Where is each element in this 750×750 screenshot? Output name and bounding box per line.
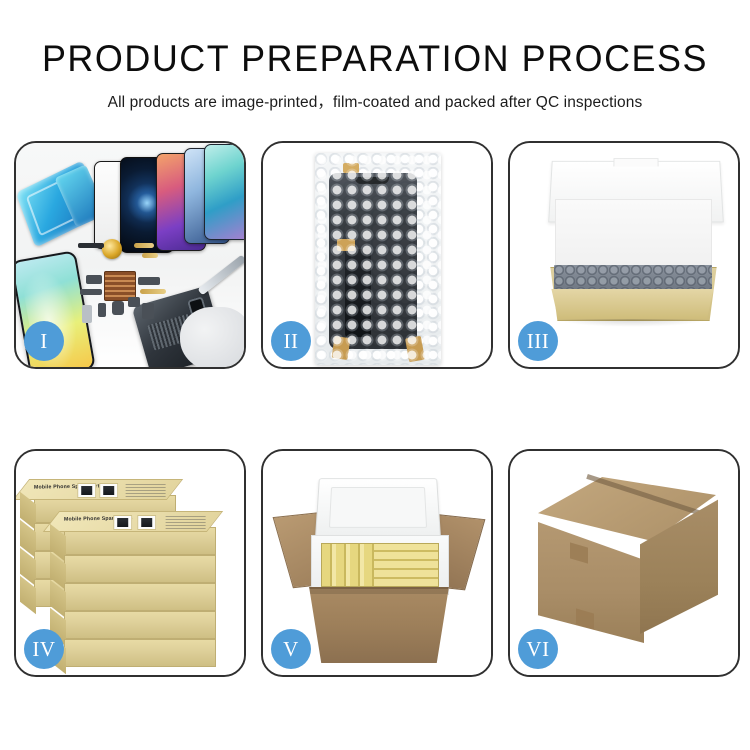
retail-box — [64, 611, 216, 639]
process-step-panel-2: II — [261, 141, 493, 369]
process-step-panel-1: I — [14, 141, 246, 369]
speaker-part-icon — [112, 301, 124, 315]
connector-part-icon — [86, 275, 102, 284]
box-window-icon — [137, 515, 156, 530]
retail-box: Mobile Phone Spare Parts — [64, 527, 216, 555]
bubble-wrap-bag-icon — [315, 153, 441, 365]
retail-box — [64, 583, 216, 611]
foam-box-lid-icon — [315, 478, 441, 537]
process-step-panel-6: VI — [508, 449, 740, 677]
flex-cable-icon — [140, 289, 166, 294]
tweezers-icon — [197, 255, 244, 296]
box-spec-lines — [126, 483, 166, 497]
camera-part-icon — [128, 297, 140, 307]
sealed-carton-icon — [528, 477, 724, 657]
box-window-icon — [113, 515, 132, 530]
step-badge-1: I — [24, 321, 64, 361]
box-window-icon — [77, 483, 96, 498]
retail-box — [64, 639, 216, 667]
kraft-box-front-icon — [548, 289, 717, 319]
packed-retail-boxes-icon — [321, 543, 439, 587]
button-part-icon — [98, 303, 106, 317]
foam-sheet-icon — [555, 199, 712, 273]
module-part-icon — [138, 277, 160, 285]
box-shadow — [556, 319, 708, 327]
carton-body-icon — [303, 587, 455, 663]
retail-box — [64, 555, 216, 583]
small-part-icon — [78, 243, 104, 248]
bubble-texture-overlay — [315, 153, 441, 365]
step-badge-5: V — [271, 629, 311, 669]
phone-screen-teal-icon — [204, 144, 244, 240]
product-preparation-process-page: PRODUCT PREPARATION PROCESS All products… — [0, 0, 750, 750]
box-window-icon — [99, 483, 118, 498]
process-step-grid: I II — [14, 141, 737, 677]
step-badge-3: III — [518, 321, 558, 361]
vibrator-part-icon — [142, 303, 154, 319]
bracket-part-icon — [80, 289, 102, 295]
hand-icon — [180, 307, 244, 367]
page-header: PRODUCT PREPARATION PROCESS All products… — [0, 0, 750, 112]
step-badge-4: IV — [24, 629, 64, 669]
sim-tray-icon — [82, 305, 92, 323]
gold-coil-part-icon — [102, 239, 122, 259]
step-badge-6: VI — [518, 629, 558, 669]
bubble-wrap-filler-icon — [554, 265, 712, 293]
page-title: PRODUCT PREPARATION PROCESS — [11, 40, 739, 77]
process-step-panel-3: III — [508, 141, 740, 369]
box-spec-lines — [166, 515, 206, 529]
retail-box-side — [20, 576, 36, 615]
flex-cable-icon — [134, 243, 154, 248]
process-step-panel-5: V — [261, 449, 493, 677]
retail-box-top: Mobile Phone Spare Parts — [16, 479, 183, 500]
retail-box-top: Mobile Phone Spare Parts — [43, 511, 223, 532]
page-subtitle: All products are image-printed，film-coat… — [0, 90, 750, 112]
process-step-panel-4: Mobile Phone Spare Parts — [14, 449, 246, 677]
flex-cable-icon — [142, 253, 158, 258]
step-badge-2: II — [271, 321, 311, 361]
